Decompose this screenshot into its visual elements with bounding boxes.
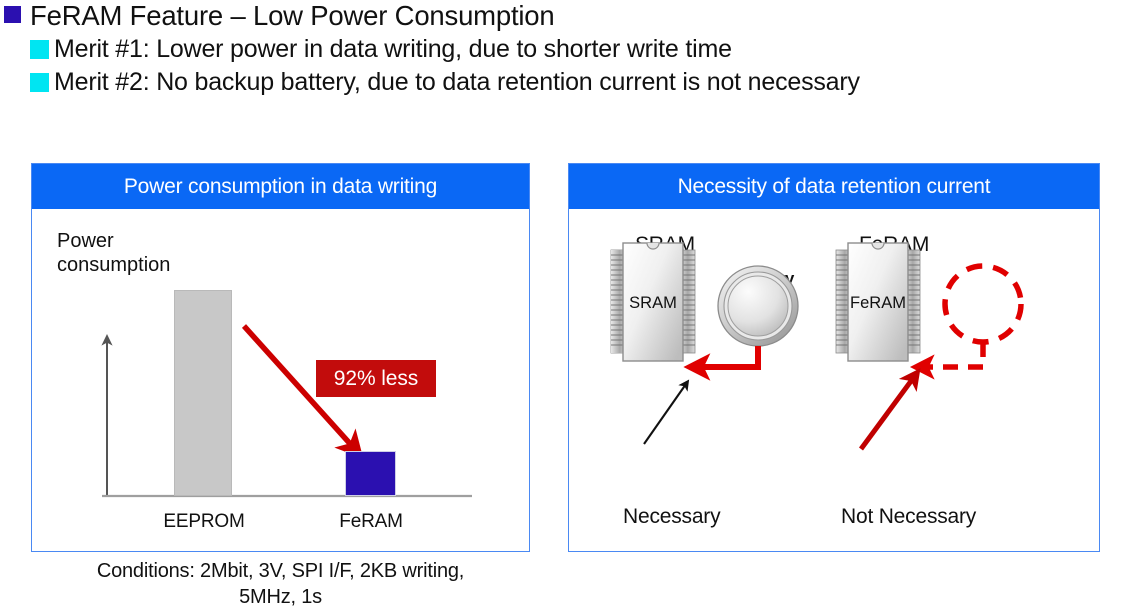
power-consumption-chart: Power consumption 92% less EEPROM [32,209,529,551]
page-title-row: FeRAM Feature – Low Power Consumption [0,0,1128,34]
bar-feram [345,451,396,496]
feram-no-power-arrow [927,342,983,367]
bullet-label: Merit #2: No backup battery, due to data… [54,67,860,98]
data-retention-diagram: SRAM FeRAM Battery [569,209,1099,551]
square-bullet-icon [30,73,49,92]
sram-chip-text: SRAM [629,294,677,312]
battery-icon [718,266,798,346]
feram-chip-icon: FeRAM [836,243,920,361]
chart-conditions-caption: Conditions: 2Mbit, 3V, SPI I/F, 2KB writ… [31,558,530,610]
bullet-item-merit-1: Merit #1: Lower power in data writing, d… [0,34,1128,67]
bullet-item-merit-2: Merit #2: No backup battery, due to data… [0,67,1128,100]
caption-line-1: Conditions: 2Mbit, 3V, SPI I/F, 2KB writ… [97,560,464,582]
retention-illustration: SRAM [569,209,1098,551]
footnote-not-necessary: Not Necessary [841,505,976,529]
panel-header-data-retention: Necessity of data retention current [569,164,1099,209]
caption-line-2: 5MHz, 1s [239,586,322,608]
feram-chip-text: FeRAM [850,294,906,312]
status-badge-92-percent-less: 92% less [316,360,436,397]
not-necessary-pointer-arrow [861,377,914,449]
data-retention-panel: Necessity of data retention current SRAM… [568,163,1100,552]
sram-power-arrow [702,346,758,367]
footnote-necessary: Necessary [623,505,720,529]
square-bullet-icon [30,40,49,59]
bar-eeprom [174,290,232,496]
absent-battery-dashed-circle [945,266,1021,342]
sram-chip-icon: SRAM [611,243,695,361]
necessary-pointer-arrow [644,384,686,444]
square-bullet-icon [4,6,21,23]
power-consumption-panel: Power consumption in data writing Power … [31,163,530,552]
x-axis-tick-feram: FeRAM [309,511,433,533]
bullet-label: Merit #1: Lower power in data writing, d… [54,34,732,65]
panel-header-power-consumption: Power consumption in data writing [32,164,529,209]
slide-header: FeRAM Feature – Low Power Consumption Me… [0,0,1128,100]
x-axis-tick-eeprom: EEPROM [142,511,266,533]
page-title: FeRAM Feature – Low Power Consumption [30,0,555,32]
